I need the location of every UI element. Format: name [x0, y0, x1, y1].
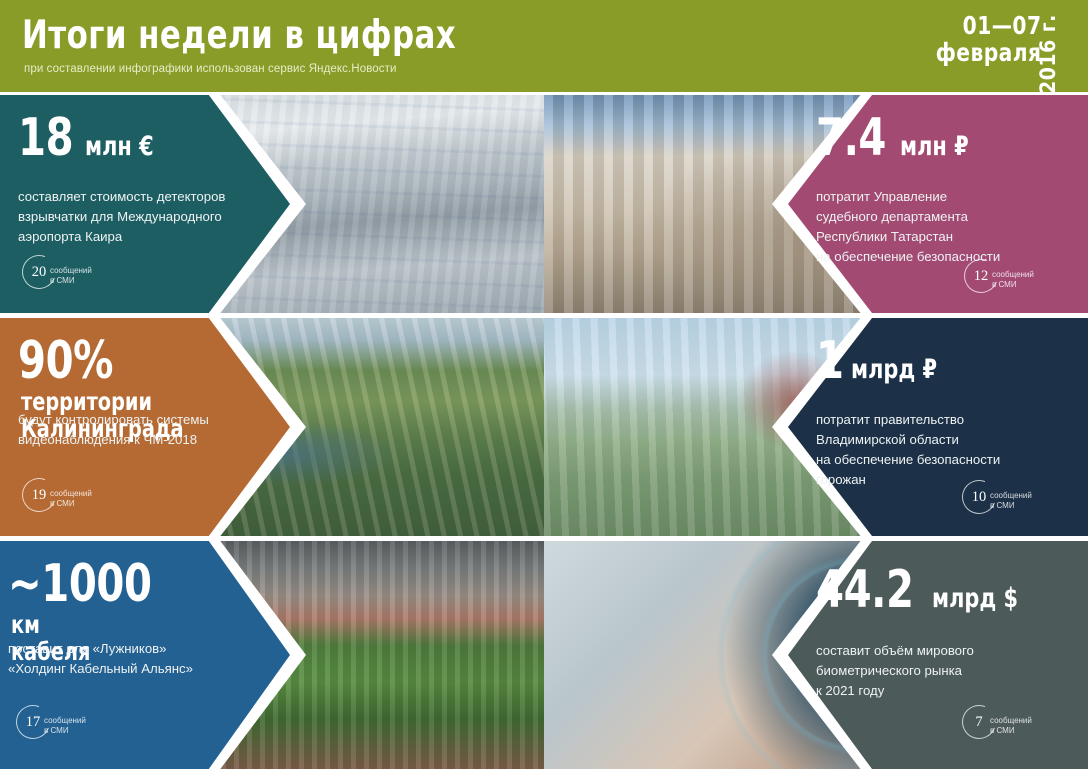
stat-value: 1	[816, 334, 844, 388]
stat-unit: млн €	[85, 132, 154, 162]
card-vladimir-security[interactable]: 1 млрд ₽ потратит правительство Владимир…	[544, 318, 1088, 536]
mentions-caption: сообщений в СМИ	[50, 266, 92, 285]
stat-block: 1 млрд ₽	[816, 334, 1074, 388]
stat-value-row: 44.2 млрд $	[816, 563, 1074, 617]
date-month: февраля	[936, 39, 1042, 66]
card-row-2: 90% территории Калининграда будут контро…	[0, 318, 1088, 536]
stat-value: 7.4	[816, 111, 886, 165]
stat-value-row: 1 млрд ₽	[816, 334, 1074, 388]
stat-value: 44.2	[816, 563, 914, 617]
card-row-1: 18 млн € составляет стоимость детекторов…	[0, 95, 1088, 313]
card-luzhniki-cable[interactable]: ~1000 км кабеля поставит для «Лужников» …	[0, 541, 544, 769]
date-year-label: 2016 г.	[1036, 14, 1060, 92]
stat-unit: млрд $	[932, 584, 1018, 614]
card-content: 18 млн € составляет стоимость детекторов…	[18, 95, 270, 313]
date-block: 01—07 февраля	[936, 12, 1042, 66]
card-biometrics-market[interactable]: 44.2 млрд $ составит объём мирового биом…	[544, 541, 1088, 769]
card-content: ~1000 км кабеля поставит для «Лужников» …	[8, 541, 270, 769]
mentions-badge: 20 сообщений в СМИ	[22, 255, 118, 295]
stat-block: 44.2 млрд $	[816, 563, 1074, 617]
stat-value: 90%	[18, 334, 113, 388]
stat-value-row: 7.4 млн ₽	[816, 111, 1074, 165]
mentions-badge: 12 сообщений в СМИ	[964, 259, 1060, 299]
mentions-badge: 19 сообщений в СМИ	[22, 478, 118, 518]
card-description: составит объём мирового биометрического …	[816, 641, 1074, 701]
stat-value: 18	[18, 111, 73, 165]
card-content: 90% территории Калининграда будут контро…	[18, 318, 270, 536]
card-content: 1 млрд ₽ потратит правительство Владимир…	[816, 318, 1074, 536]
stat-value: ~1000	[8, 557, 152, 611]
card-description: потратит правительство Владимирской обла…	[816, 410, 1074, 490]
card-description: составляет стоимость детекторов взрывчат…	[18, 187, 270, 247]
page-header: Итоги недели в цифрах при составлении ин…	[0, 0, 1088, 92]
mentions-caption: сообщений в СМИ	[990, 491, 1032, 510]
page-subtitle: при составлении инфографики использован …	[24, 63, 397, 75]
stat-unit: млн ₽	[900, 132, 969, 162]
stat-unit: млрд ₽	[851, 355, 937, 385]
mentions-badge: 7 сообщений в СМИ	[962, 705, 1058, 745]
stat-block: 18 млн €	[18, 111, 270, 165]
date-year-vertical: 2016 г.	[1050, 14, 1080, 80]
mentions-badge: 10 сообщений в СМИ	[962, 480, 1058, 520]
page-title: Итоги недели в цифрах	[22, 13, 456, 58]
card-row-3: ~1000 км кабеля поставит для «Лужников» …	[0, 541, 1088, 769]
mentions-caption: сообщений в СМИ	[992, 270, 1034, 289]
stat-block: 7.4 млн ₽	[816, 111, 1074, 165]
mentions-caption: сообщений в СМИ	[50, 489, 92, 508]
mentions-caption: сообщений в СМИ	[44, 716, 86, 735]
card-content: 44.2 млрд $ составит объём мирового биом…	[816, 541, 1074, 769]
card-content: 7.4 млн ₽ потратит Управление судебного …	[816, 95, 1074, 313]
date-range: 01—07	[936, 12, 1042, 39]
card-cairo-detectors[interactable]: 18 млн € составляет стоимость детекторов…	[0, 95, 544, 313]
card-tatarstan-court[interactable]: 7.4 млн ₽ потратит Управление судебного …	[544, 95, 1088, 313]
infographic-page: Итоги недели в цифрах при составлении ин…	[0, 0, 1088, 769]
card-description: потратит Управление судебного департамен…	[816, 187, 1074, 267]
mentions-caption: сообщений в СМИ	[990, 716, 1032, 735]
mentions-badge: 17 сообщений в СМИ	[16, 705, 112, 745]
card-description: будут контролировать системы видеонаблюд…	[18, 410, 270, 450]
stat-value-row: 18 млн €	[18, 111, 270, 165]
card-kaliningrad-video[interactable]: 90% территории Калининграда будут контро…	[0, 318, 544, 536]
card-description: поставит для «Лужников» «Холдинг Кабельн…	[8, 639, 270, 679]
